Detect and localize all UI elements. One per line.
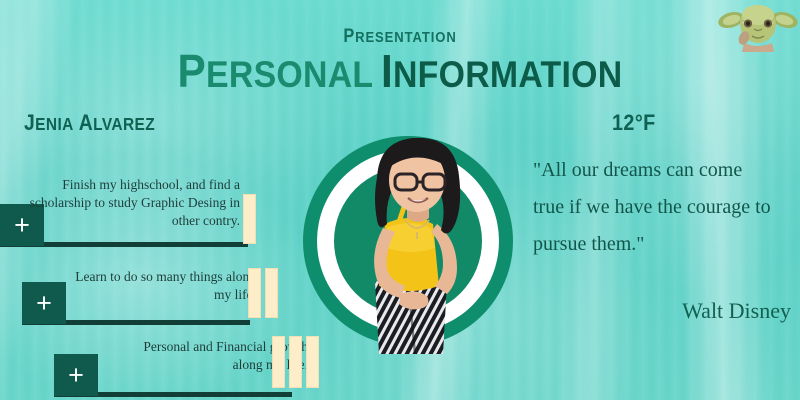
portrait-medallion [303, 136, 513, 346]
presenter-name: JENIA ALVAREZ [24, 110, 155, 136]
goal-item[interactable]: + Learn to do so many things along my li… [22, 268, 302, 326]
page-title: PERSONALINFORMATION [32, 48, 768, 94]
presentation-slide: PRESENTATION PERSONALINFORMATION JENIA A… [0, 0, 800, 400]
goal-item[interactable]: + Personal and Financial growth along my… [54, 340, 354, 398]
quote-line-1: "All our dreams can come [533, 152, 800, 189]
title-word-information: INFORMATION [381, 45, 622, 97]
quote-text: "All our dreams can come true if we have… [533, 152, 800, 262]
title-word-personal: PERSONAL [178, 45, 374, 97]
goal-progress-bars [248, 268, 278, 316]
goal-progress-bars [243, 194, 256, 242]
quote-line-3: pursue them." [533, 226, 800, 263]
quote-line-2: true if we have the courage to [533, 189, 800, 226]
goal-plus-button[interactable]: + [54, 354, 98, 396]
goal-item[interactable]: + Finish my highschool, and find a schol… [0, 190, 280, 248]
goal-text: Learn to do so many things along my life… [60, 268, 256, 304]
quote-author: Walt Disney [533, 298, 791, 324]
avatar [313, 132, 503, 354]
goal-text: Finish my highschool, and find a scholar… [22, 176, 240, 229]
temperature-badge: 12°F [612, 110, 656, 136]
